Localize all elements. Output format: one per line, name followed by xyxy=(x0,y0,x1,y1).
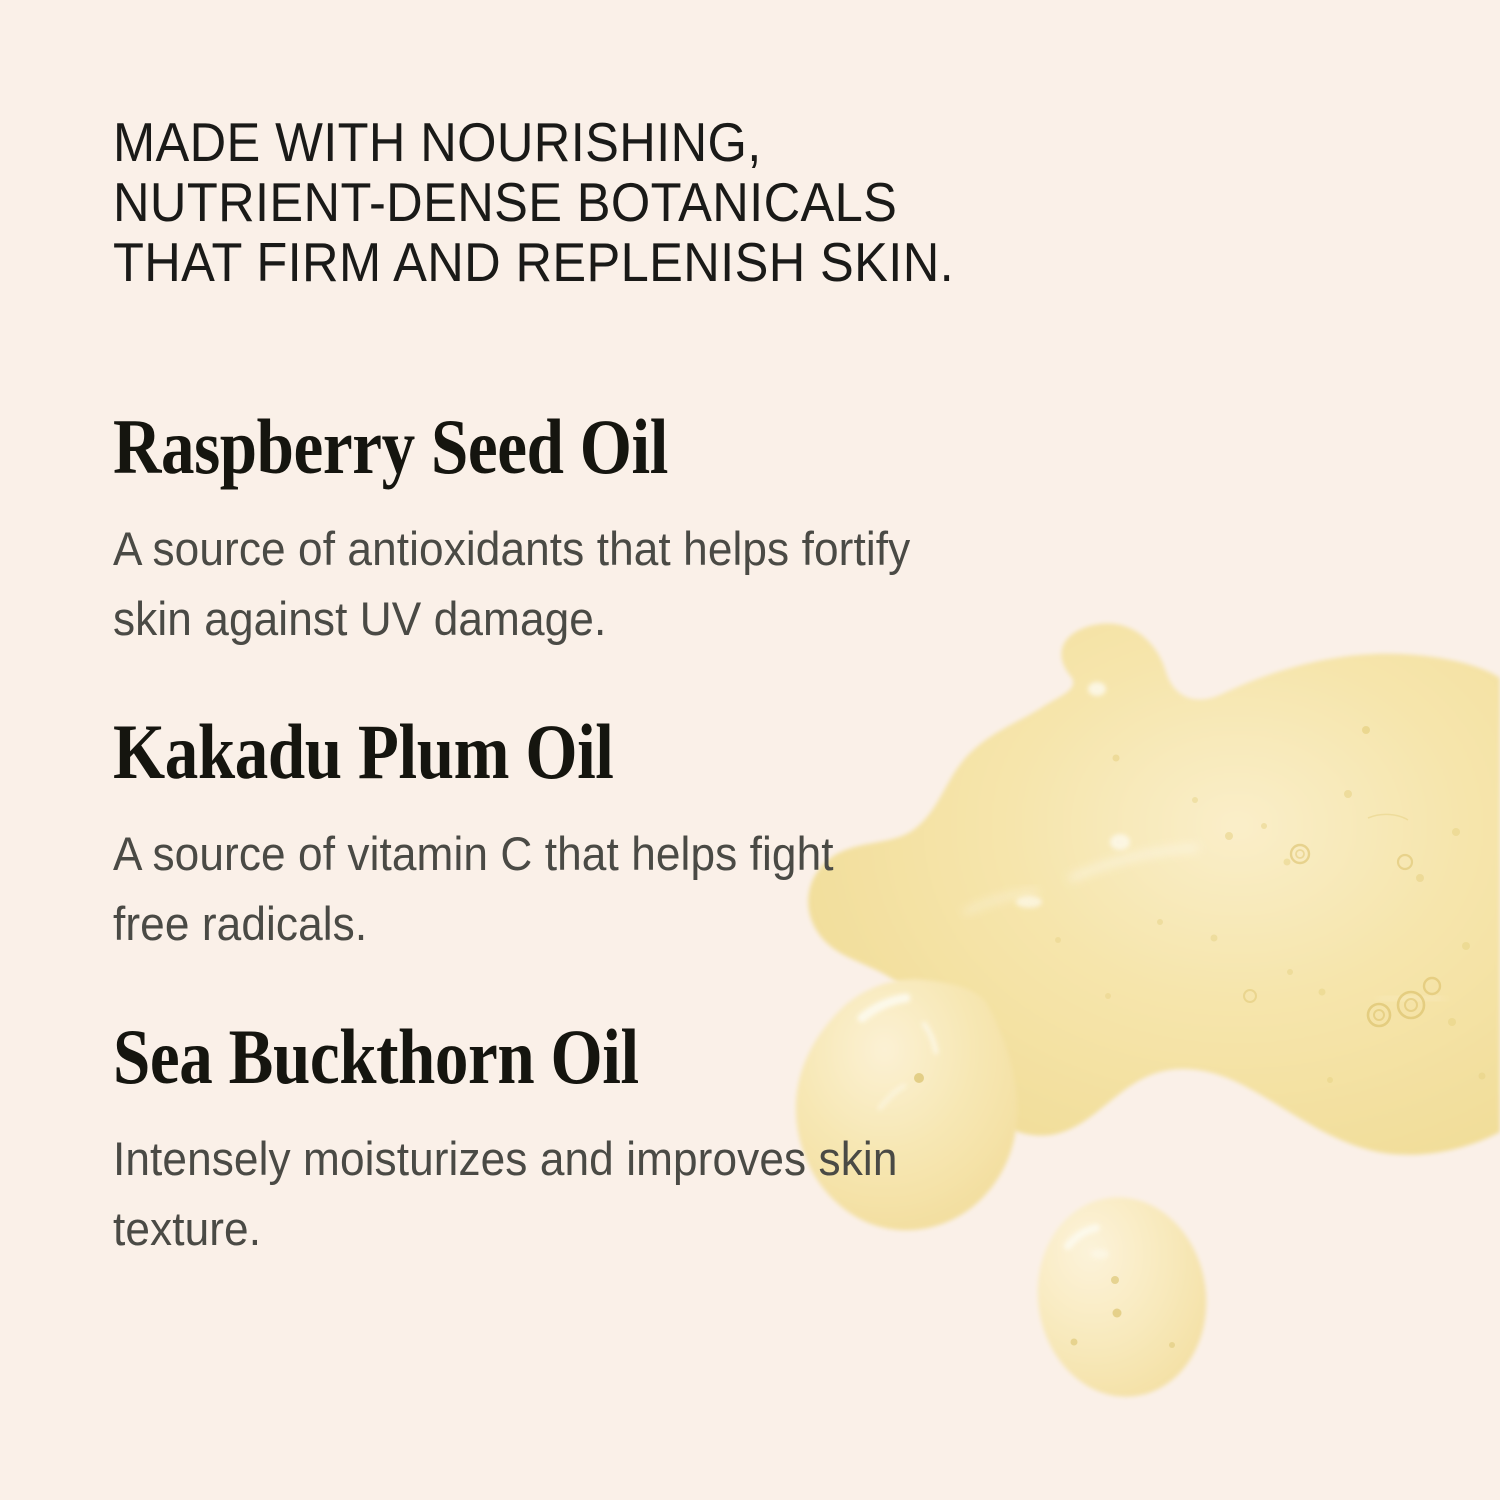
oil-droplet-round xyxy=(1025,1186,1219,1407)
oil-highlight-streak xyxy=(1072,848,1196,878)
ingredient-description: A source of vitamin C that helps fight f… xyxy=(113,819,921,959)
oil-highlight xyxy=(1091,1249,1109,1259)
oil-highlight-streak xyxy=(1380,997,1442,1000)
oil-highlight-streak xyxy=(1068,1228,1096,1246)
ingredient-name: Raspberry Seed Oil xyxy=(113,404,887,490)
oil-highlight xyxy=(1088,682,1106,696)
ingredient-block: Sea Buckthorn Oil Intensely moisturizes … xyxy=(113,1014,1013,1264)
ingredient-block: Kakadu Plum Oil A source of vitamin C th… xyxy=(113,709,1013,959)
ingredient-name: Kakadu Plum Oil xyxy=(113,709,887,795)
infographic-canvas: MADE WITH NOURISHING, NUTRIENT-DENSE BOT… xyxy=(0,0,1500,1500)
page-headline: MADE WITH NOURISHING, NUTRIENT-DENSE BOT… xyxy=(113,112,1024,292)
ingredient-block: Raspberry Seed Oil A source of antioxida… xyxy=(113,404,1013,654)
oil-bubbles xyxy=(1055,726,1486,1083)
ingredient-name: Sea Buckthorn Oil xyxy=(113,1014,887,1100)
ingredient-description: Intensely moisturizes and improves skin … xyxy=(113,1124,921,1264)
oil-highlight xyxy=(1016,896,1042,908)
oil-highlight xyxy=(1110,834,1130,850)
ingredient-description: A source of antioxidants that helps fort… xyxy=(113,514,921,654)
